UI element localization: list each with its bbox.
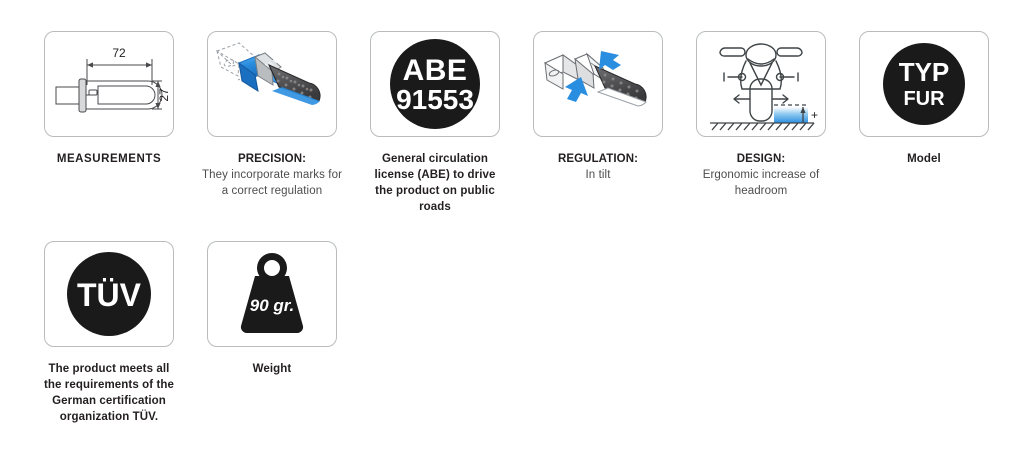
footpeg-tilt-arrows-icon <box>535 33 661 135</box>
feature-cell-model: TYP FUR Model <box>859 31 989 215</box>
dimension-height-label: 27 <box>157 88 171 102</box>
tuv-badge-line1: TÜV <box>77 277 142 313</box>
model-title: Model <box>852 151 996 167</box>
precision-caption: PRECISION: They incorporate marks for a … <box>200 151 344 199</box>
abe-panel: ABE 91553 <box>370 31 500 137</box>
design-title: DESIGN: <box>689 151 833 167</box>
motorcycle-front-clearance-icon: + <box>698 33 824 135</box>
footpeg-adjust-marks-icon <box>209 33 335 135</box>
feature-cell-regulation: REGULATION: In tilt <box>533 31 663 215</box>
tuv-caption: The product meets all the requirements o… <box>40 361 178 425</box>
model-caption: Model <box>852 151 996 167</box>
model-badge-line1: TYP <box>899 57 950 87</box>
measurements-caption: MEASUREMENTS <box>37 151 181 167</box>
feature-row-2: TÜV The product meets all the requiremen… <box>44 241 984 425</box>
measurements-panel: 72 27 <box>44 31 174 137</box>
weight-caption: Weight <box>200 361 344 377</box>
regulation-panel <box>533 31 663 137</box>
ruler-dimension-drawing-icon: 72 27 <box>46 33 172 135</box>
measurements-title: MEASUREMENTS <box>37 151 181 167</box>
regulation-caption: REGULATION: In tilt <box>526 151 670 183</box>
abe-badge-line1: ABE <box>403 54 468 87</box>
weight-value-label: 90 gr. <box>250 296 294 315</box>
regulation-body: In tilt <box>586 169 611 181</box>
precision-body: They incorporate marks for a correct reg… <box>202 169 342 197</box>
abe-badge-line2: 91553 <box>396 84 474 115</box>
precision-title: PRECISION: <box>200 151 344 167</box>
dimension-width-label: 72 <box>112 46 126 60</box>
design-body: Ergonomic increase of headroom <box>703 169 820 197</box>
feature-cell-measurements: 72 27 MEASUREMENTS <box>44 31 174 215</box>
feature-cell-tuv: TÜV The product meets all the requiremen… <box>44 241 174 425</box>
design-panel: + <box>696 31 826 137</box>
regulation-title: REGULATION: <box>526 151 670 167</box>
model-badge-line2: FUR <box>903 88 945 110</box>
weight-block-icon: 90 gr. <box>209 243 335 345</box>
precision-panel <box>207 31 337 137</box>
abe-caption: General circulation license (ABE) to dri… <box>366 151 504 215</box>
feature-cell-design: + <box>696 31 826 215</box>
feature-grid: 72 27 MEASUREMENTS <box>44 31 984 425</box>
tuv-body: The product meets all the requirements o… <box>44 363 174 423</box>
feature-cell-abe: ABE 91553 General circulation license (A… <box>370 31 500 215</box>
clearance-plus-marker: + <box>811 108 818 122</box>
feature-row-1: 72 27 MEASUREMENTS <box>44 31 984 215</box>
feature-cell-precision: PRECISION: They incorporate marks for a … <box>207 31 337 215</box>
model-panel: TYP FUR <box>859 31 989 137</box>
tuv-certification-badge-icon: TÜV <box>46 243 172 345</box>
weight-title: Weight <box>200 361 344 377</box>
abe-body: General circulation license (ABE) to dri… <box>374 153 495 213</box>
abe-approval-badge-icon: ABE 91553 <box>372 33 498 135</box>
weight-panel: 90 gr. <box>207 241 337 347</box>
typ-fur-badge-icon: TYP FUR <box>861 33 987 135</box>
feature-icon-sheet: 72 27 MEASUREMENTS <box>0 0 1024 465</box>
feature-cell-weight: 90 gr. Weight <box>207 241 337 425</box>
tuv-panel: TÜV <box>44 241 174 347</box>
design-caption: DESIGN: Ergonomic increase of headroom <box>689 151 833 199</box>
